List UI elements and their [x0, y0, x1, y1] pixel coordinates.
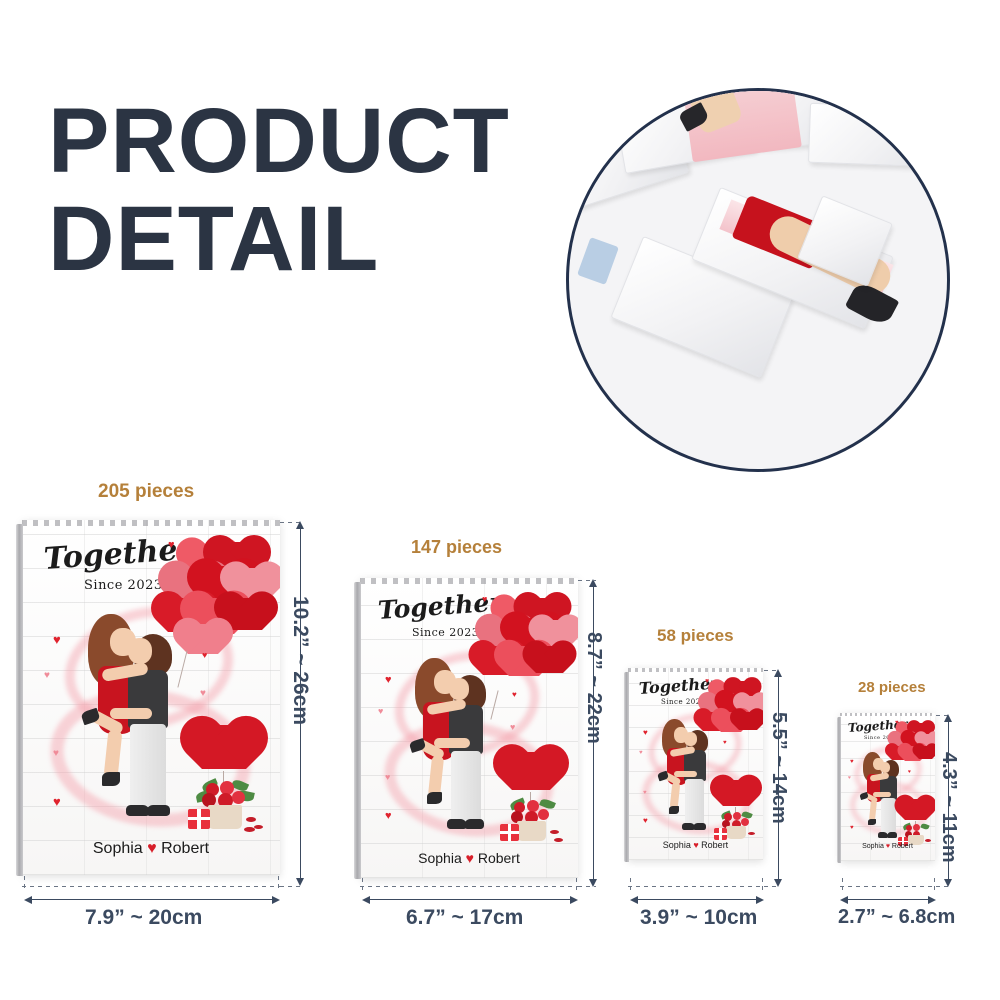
heart-icon: ♥: [385, 810, 392, 822]
man-jeans: [685, 779, 704, 826]
man-jeans: [130, 724, 166, 810]
width-dimension-label: 6.7” ~ 17cm: [406, 906, 523, 930]
man-jeans: [451, 751, 481, 824]
heart-balloon: [919, 746, 932, 759]
rose-pot-arrangement: [716, 780, 758, 840]
page-title: PRODUCT DETAIL: [48, 96, 568, 284]
artwork-subline: Since 2023: [84, 578, 163, 593]
heart-icon: ♥: [53, 794, 61, 809]
heart-icon: ♥: [202, 650, 207, 660]
woman-shoe: [102, 772, 120, 786]
flower-pot: [726, 826, 746, 839]
arrow-down-icon: [774, 879, 782, 887]
petal: [748, 832, 755, 835]
man-tshirt: [128, 670, 168, 728]
dimension-extension-line: [280, 886, 302, 887]
rose-pot-arrangement: [900, 799, 933, 845]
dimension-extension-line: [360, 886, 578, 887]
man-arm: [873, 792, 891, 797]
heart-icon: ♥: [643, 790, 647, 796]
woman-shoe: [427, 792, 442, 804]
rose: [538, 809, 549, 820]
dimension-extension-line: [576, 878, 577, 890]
arrow-left-icon: [630, 896, 638, 904]
heart-icon: ♥: [639, 750, 643, 756]
dimension-extension-line: [762, 878, 763, 890]
heart-icon: ♥: [510, 722, 515, 732]
heart-balloon: [536, 646, 563, 673]
rose: [733, 812, 741, 820]
man-shoe: [887, 832, 897, 838]
pieces-count-label: 205 pieces: [98, 481, 194, 503]
flower-pot: [208, 805, 242, 829]
arrow-up-icon: [589, 579, 597, 587]
heart-icon: ♥: [850, 759, 854, 765]
heart-icon: ♥: [385, 772, 390, 782]
heart-balloon-large: [723, 780, 749, 806]
arrow-right-icon: [272, 896, 280, 904]
puzzle-notches: [840, 713, 935, 716]
puzzle-notches: [22, 520, 280, 526]
man-arm: [434, 738, 470, 748]
couple-illustration: [84, 612, 194, 832]
arrow-up-icon: [296, 521, 304, 529]
couple-illustration: [412, 656, 506, 842]
man-shoe: [693, 823, 706, 830]
gift-box: [188, 809, 210, 829]
petal: [925, 839, 931, 842]
dimension-extension-line: [278, 876, 279, 890]
width-dimension-line: [846, 899, 930, 900]
heart-balloon: [230, 598, 262, 630]
height-dimension-label: 5.5” ~ 14cm: [767, 712, 790, 824]
width-dimension-line: [636, 899, 758, 900]
petal: [246, 817, 256, 822]
product-closeup-photo: [566, 88, 950, 472]
block-piece: [808, 103, 942, 168]
pieces-count-label: 28 pieces: [858, 679, 926, 696]
height-dimension-label: 4.3” ~ 11cm: [937, 752, 960, 863]
heart-balloon-large: [512, 752, 550, 790]
flower-pot: [517, 821, 546, 841]
dimension-extension-line: [840, 886, 936, 887]
arrow-right-icon: [570, 896, 578, 904]
couple-illustration: [660, 718, 720, 838]
arrow-right-icon: [756, 896, 764, 904]
heart-icon: ♥: [643, 728, 648, 737]
rose-pot-arrangement: [190, 725, 262, 830]
arrow-left-icon: [24, 896, 32, 904]
heart-balloon-large: [905, 799, 926, 820]
artwork-names: Sophia ♥ Robert: [360, 850, 578, 866]
arrow-up-icon: [774, 669, 782, 677]
pieces-count-label: 58 pieces: [657, 626, 734, 646]
dimension-extension-line: [362, 878, 363, 890]
panel-depth-edge: [354, 582, 361, 879]
arrow-down-icon: [589, 879, 597, 887]
petal: [244, 827, 255, 832]
arrow-up-icon: [944, 714, 952, 722]
arrow-left-icon: [840, 896, 848, 904]
heart-icon: ♥: [512, 690, 517, 699]
arrow-right-icon: [928, 896, 936, 904]
product-detail-page: PRODUCT DETAIL 205 pieces: [0, 0, 1000, 1000]
rose: [741, 818, 749, 826]
woman-shoe: [868, 819, 876, 825]
puzzle-panel-147: Together ♥ Since 2023: [360, 578, 578, 878]
rose: [232, 791, 245, 804]
arrow-down-icon: [944, 879, 952, 887]
man-head: [449, 678, 469, 700]
puzzle-notches: [360, 578, 578, 584]
man-head: [684, 732, 697, 746]
heart-icon: ♥: [44, 670, 50, 681]
gift-box: [500, 824, 519, 841]
width-dimension-line: [368, 899, 572, 900]
puzzle-panel-58: Together ♥ Since 2023: [628, 668, 763, 860]
width-dimension-label: 2.7” ~ 6.8cm: [838, 906, 955, 929]
width-dimension-line: [30, 899, 274, 900]
man-arm: [110, 708, 152, 719]
petal: [550, 830, 559, 834]
heart-icon: ♥: [850, 825, 854, 831]
arrow-left-icon: [362, 896, 370, 904]
heart-balloon: [739, 712, 757, 730]
dimension-extension-line: [630, 878, 631, 890]
dimension-extension-line: [934, 878, 935, 890]
dimension-extension-line: [24, 876, 25, 890]
heart-balloon-large: [202, 725, 246, 769]
blue-block-piece: [577, 237, 619, 285]
dimension-extension-line: [842, 878, 843, 890]
leaf: [920, 823, 929, 831]
puzzle-panel-205: Together ♥ Since 2023: [22, 520, 280, 875]
dimension-extension-line: [628, 886, 764, 887]
width-dimension-label: 3.9” ~ 10cm: [640, 906, 757, 930]
artwork-names: Sophia ♥ Robert: [840, 843, 935, 850]
page-title-line-1: PRODUCT: [48, 96, 568, 186]
pieces-count-label: 147 pieces: [411, 537, 502, 558]
page-title-line-2: DETAIL: [48, 194, 568, 284]
heart-icon: ♥: [53, 748, 59, 759]
man-head: [128, 638, 152, 664]
man-arm: [674, 771, 697, 777]
puzzle-panel-28: Together ♥ Since 2023: [840, 713, 935, 861]
artwork-subline: Since 2023: [412, 626, 479, 639]
man-shoe: [464, 819, 484, 829]
dimension-extension-line: [22, 886, 280, 887]
man-head: [880, 762, 890, 773]
panel-depth-edge: [624, 672, 629, 862]
height-dimension-label: 10.2” ~ 26cm: [288, 596, 312, 725]
heart-icon: ♥: [200, 688, 206, 699]
heart-icon: ♥: [385, 674, 392, 686]
woman-shoe: [669, 806, 679, 814]
puzzle-notches: [628, 668, 763, 672]
man-shoe: [146, 805, 170, 816]
rose: [913, 824, 920, 831]
artwork-names: Sophia ♥ Robert: [628, 840, 763, 850]
petal: [554, 838, 563, 842]
heart-icon: ♥: [378, 706, 383, 716]
height-dimension-label: 8.7” ~ 22cm: [582, 632, 605, 744]
width-dimension-label: 7.9” ~ 20cm: [85, 906, 202, 930]
artwork-names: Sophia ♥ Robert: [22, 840, 280, 858]
heart-icon: ♥: [848, 775, 851, 781]
arrow-down-icon: [296, 878, 304, 886]
heart-icon: ♥: [53, 632, 61, 647]
rose-pot-arrangement: [502, 752, 564, 842]
panel-depth-edge: [16, 524, 23, 876]
heart-icon: ♥: [908, 769, 911, 775]
heart-icon: ♥: [643, 816, 648, 825]
petal: [254, 825, 263, 829]
panel-depth-edge: [837, 717, 841, 863]
heart-icon: ♥: [723, 740, 727, 746]
gift-box: [714, 828, 727, 840]
